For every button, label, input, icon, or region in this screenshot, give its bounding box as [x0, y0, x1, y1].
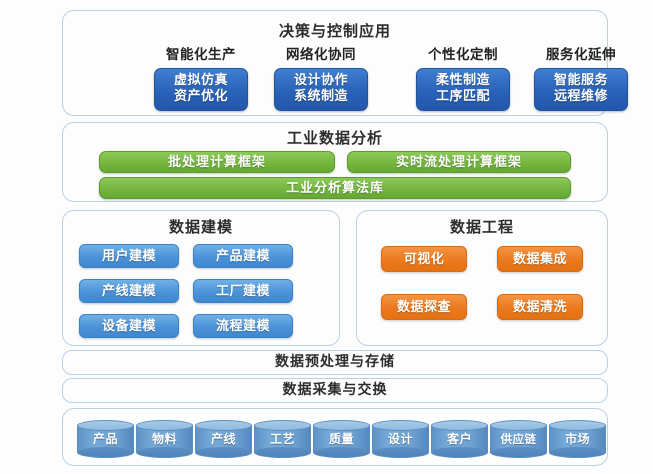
data-modeling-panel: 数据建模 用户建模 产品建模 产线建模 工厂建模 设备建模 流程建模	[62, 210, 340, 346]
data-source-process[interactable]: 工艺	[254, 420, 311, 458]
card-line-1: 智能服务	[554, 73, 608, 88]
modeling-item-equipment[interactable]: 设备建模	[79, 314, 179, 338]
card-line-1: 虚拟仿真	[174, 73, 228, 88]
data-source-label: 供应链	[490, 425, 547, 453]
card-line-1: 设计协作	[294, 73, 348, 88]
application-column-intelligent-production: 智能化生产 虚拟仿真 资产优化	[141, 49, 261, 111]
application-column-service-extension: 服务化延伸 智能服务 远程维修	[521, 49, 641, 111]
application-card-design-collaboration[interactable]: 设计协作 系统制造	[274, 68, 368, 111]
data-source-supply-chain[interactable]: 供应链	[490, 420, 547, 458]
framework-algorithm-library[interactable]: 工业分析算法库	[99, 177, 571, 199]
decision-control-title: 决策与控制应用	[63, 24, 607, 39]
data-source-label: 设计	[372, 425, 429, 453]
data-source-market[interactable]: 市场	[549, 420, 606, 458]
card-line-2: 资产优化	[174, 89, 228, 104]
modeling-item-user[interactable]: 用户建模	[79, 244, 179, 268]
category-label: 网络化协同	[261, 49, 381, 63]
card-line-2: 工序匹配	[436, 89, 490, 104]
category-label: 服务化延伸	[521, 49, 641, 63]
category-label: 智能化生产	[141, 49, 261, 63]
collection-layer-bar: 数据采集与交换	[62, 378, 608, 403]
engineering-item-visualization[interactable]: 可视化	[381, 246, 467, 272]
industrial-data-analysis-title: 工业数据分析	[63, 131, 607, 146]
modeling-item-production-line[interactable]: 产线建模	[79, 279, 179, 303]
category-label: 个性化定制	[403, 49, 523, 63]
card-line-1: 柔性制造	[436, 73, 490, 88]
data-source-label: 质量	[313, 425, 370, 453]
data-source-production-line[interactable]: 产线	[195, 420, 252, 458]
application-card-flexible-manufacturing[interactable]: 柔性制造 工序匹配	[416, 68, 510, 111]
data-source-label: 产品	[77, 425, 134, 453]
industrial-data-analysis-panel: 工业数据分析 批处理计算框架 实时流处理计算框架 工业分析算法库	[62, 122, 608, 202]
framework-batch-computing[interactable]: 批处理计算框架	[99, 151, 335, 173]
data-sources-panel: 产品 物料 产线 工艺 质量	[62, 408, 608, 466]
data-source-quality[interactable]: 质量	[313, 420, 370, 458]
modeling-item-factory[interactable]: 工厂建模	[193, 279, 293, 303]
data-engineering-title: 数据工程	[357, 220, 607, 235]
data-source-customer[interactable]: 客户	[431, 420, 488, 458]
decision-control-panel: 决策与控制应用 智能化生产 虚拟仿真 资产优化 网络化协同 设计协作 系统制造 …	[62, 10, 608, 116]
card-line-2: 系统制造	[294, 89, 348, 104]
application-card-virtual-simulation[interactable]: 虚拟仿真 资产优化	[154, 68, 248, 111]
engineering-item-data-exploration[interactable]: 数据探查	[381, 294, 467, 320]
modeling-item-product[interactable]: 产品建模	[193, 244, 293, 268]
data-source-product[interactable]: 产品	[77, 420, 134, 458]
data-source-label: 物料	[136, 425, 193, 453]
storage-layer-bar: 数据预处理与存储	[62, 350, 608, 375]
data-modeling-title: 数据建模	[63, 220, 339, 235]
data-engineering-panel: 数据工程 可视化 数据集成 数据探查 数据清洗	[356, 210, 608, 346]
framework-stream-computing[interactable]: 实时流处理计算框架	[347, 151, 571, 173]
engineering-item-data-cleaning[interactable]: 数据清洗	[497, 294, 583, 320]
application-column-networked-collaboration: 网络化协同 设计协作 系统制造	[261, 49, 381, 111]
architecture-diagram: 决策与控制应用 智能化生产 虚拟仿真 资产优化 网络化协同 设计协作 系统制造 …	[0, 0, 653, 474]
application-column-personalized-customization: 个性化定制 柔性制造 工序匹配	[403, 49, 523, 111]
data-source-label: 客户	[431, 425, 488, 453]
card-line-2: 远程维修	[554, 89, 608, 104]
data-source-label: 产线	[195, 425, 252, 453]
data-source-design[interactable]: 设计	[372, 420, 429, 458]
modeling-item-process[interactable]: 流程建模	[193, 314, 293, 338]
engineering-item-data-integration[interactable]: 数据集成	[497, 246, 583, 272]
application-card-intelligent-service[interactable]: 智能服务 远程维修	[534, 68, 628, 111]
data-source-label: 市场	[549, 425, 606, 453]
data-source-label: 工艺	[254, 425, 311, 453]
data-source-material[interactable]: 物料	[136, 420, 193, 458]
